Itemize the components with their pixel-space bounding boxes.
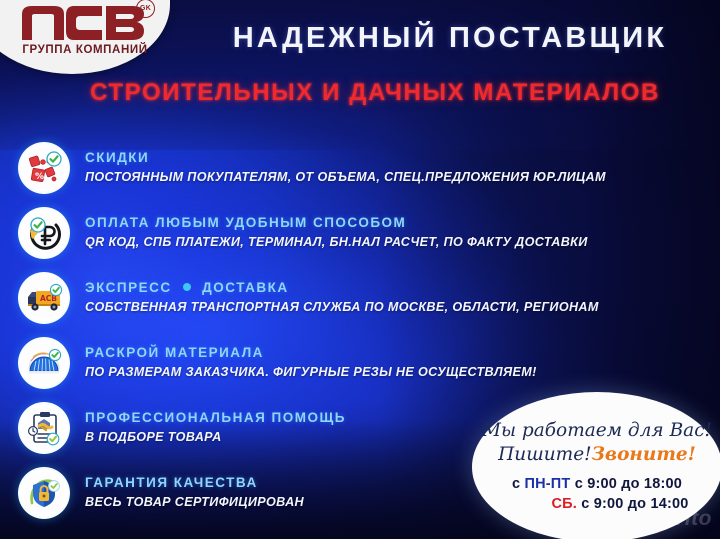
feature-title: РАСКРОЙ МАТЕРИАЛА: [85, 344, 537, 361]
logo: GK ГРУППА КОМПАНИЙ: [0, 0, 170, 74]
clipboard-handshake-icon: [18, 402, 70, 454]
feature-row: РАСКРОЙ МАТЕРИАЛА ПО РАЗМЕРАМ ЗАКАЗЧИКА.…: [0, 330, 720, 395]
gk-badge-icon: GK: [136, 0, 155, 18]
feature-row: ОПЛАТА ЛЮБЫМ УДОБНЫМ СПОСОБОМ QR КОД, СП…: [0, 200, 720, 265]
contact-slogan: Мы работаем для Вас!: [482, 420, 712, 442]
feature-title: ГАРАНТИЯ КАЧЕСТВА: [85, 474, 304, 491]
feature-desc: В ПОДБОРЕ ТОВАРА: [85, 428, 346, 447]
acb-logo-icon: [20, 2, 146, 42]
contact-cta: Пишите!Звоните!: [498, 444, 696, 466]
call-label: Звоните!: [592, 444, 696, 465]
feature-title-part2: ДОСТАВКА: [202, 280, 288, 295]
feature-desc: СОБСТВЕННАЯ ТРАНСПОРТНАЯ СЛУЖБА ПО МОСКВ…: [85, 298, 599, 317]
feature-title: ЭКСПРЕСС ДОСТАВКА: [85, 279, 599, 296]
ruble-payment-icon: [18, 207, 70, 259]
discount-tags-icon: %: [18, 142, 70, 194]
weekday-days: ПН-ПТ: [524, 476, 570, 492]
feature-desc: ПО РАЗМЕРАМ ЗАКАЗЧИКА. ФИГУРНЫЕ РЕЗЫ НЕ …: [85, 363, 537, 382]
weekday-prefix: с: [512, 476, 520, 492]
headline: НАДЕЖНЫЙ ПОСТАВЩИК: [180, 22, 720, 55]
saturday-hours: СБ. с 9:00 до 14:00: [505, 494, 688, 514]
weekday-time: с 9:00 до 18:00: [575, 476, 682, 492]
feature-row: % СКИДКИ ПОСТОЯННЫМ ПОКУПАТЕЛЯМ, ОТ ОБЪЕ…: [0, 135, 720, 200]
feature-text: ПРОФЕССИОНАЛЬНАЯ ПОМОЩЬ В ПОДБОРЕ ТОВАРА: [85, 409, 346, 447]
delivery-truck-icon: ACB: [18, 272, 70, 324]
feature-text: ГАРАНТИЯ КАЧЕСТВА ВЕСЬ ТОВАР СЕРТИФИЦИРО…: [85, 474, 304, 512]
contact-badge: Мы работаем для Вас! Пишите!Звоните! с П…: [472, 392, 720, 539]
feature-desc: ПОСТОЯННЫМ ПОКУПАТЕЛЯМ, ОТ ОБЪЕМА, СПЕЦ.…: [85, 168, 606, 187]
feature-text: ЭКСПРЕСС ДОСТАВКА СОБСТВЕННАЯ ТРАНСПОРТН…: [85, 279, 599, 317]
svg-text:%: %: [35, 172, 44, 182]
feature-title: ПРОФЕССИОНАЛЬНАЯ ПОМОЩЬ: [85, 409, 346, 426]
logo-plate: GK ГРУППА КОМПАНИЙ: [0, 0, 170, 74]
logo-subtitle: ГРУППА КОМПАНИЙ: [10, 44, 160, 56]
feature-desc: ВЕСЬ ТОВАР СЕРТИФИЦИРОВАН: [85, 493, 304, 512]
feature-text: РАСКРОЙ МАТЕРИАЛА ПО РАЗМЕРАМ ЗАКАЗЧИКА.…: [85, 344, 537, 382]
shield-lock-icon: [18, 467, 70, 519]
weekday-hours: с ПН-ПТ с 9:00 до 18:00: [512, 474, 682, 494]
contact-badge-content: Мы работаем для Вас! Пишите!Звоните! с П…: [472, 392, 720, 539]
feature-title: СКИДКИ: [85, 149, 606, 166]
feature-desc: QR КОД, СПБ ПЛАТЕЖИ, ТЕРМИНАЛ, БН.НАЛ РА…: [85, 233, 588, 252]
feature-text: ОПЛАТА ЛЮБЫМ УДОБНЫМ СПОСОБОМ QR КОД, СП…: [85, 214, 588, 252]
feature-row: ACB ЭКСПРЕСС ДОСТАВКА СОБСТВЕННАЯ ТРАНСП…: [0, 265, 720, 330]
saturday-days: СБ.: [551, 496, 577, 512]
saturday-time: с 9:00 до 14:00: [581, 496, 688, 512]
feature-title: ОПЛАТА ЛЮБЫМ УДОБНЫМ СПОСОБОМ: [85, 214, 588, 231]
subheadline: СТРОИТЕЛЬНЫХ И ДАЧНЫХ МАТЕРИАЛОВ: [30, 79, 720, 107]
saw-blade-icon: [18, 337, 70, 389]
bullet-separator-icon: [183, 283, 191, 291]
advertisement-banner: GK ГРУППА КОМПАНИЙ НАДЕЖНЫЙ ПОСТАВЩИК СТ…: [0, 0, 720, 539]
write-label: Пишите!: [498, 444, 591, 465]
feature-text: СКИДКИ ПОСТОЯННЫМ ПОКУПАТЕЛЯМ, ОТ ОБЪЕМА…: [85, 149, 606, 187]
feature-title-part1: ЭКСПРЕСС: [85, 280, 172, 295]
